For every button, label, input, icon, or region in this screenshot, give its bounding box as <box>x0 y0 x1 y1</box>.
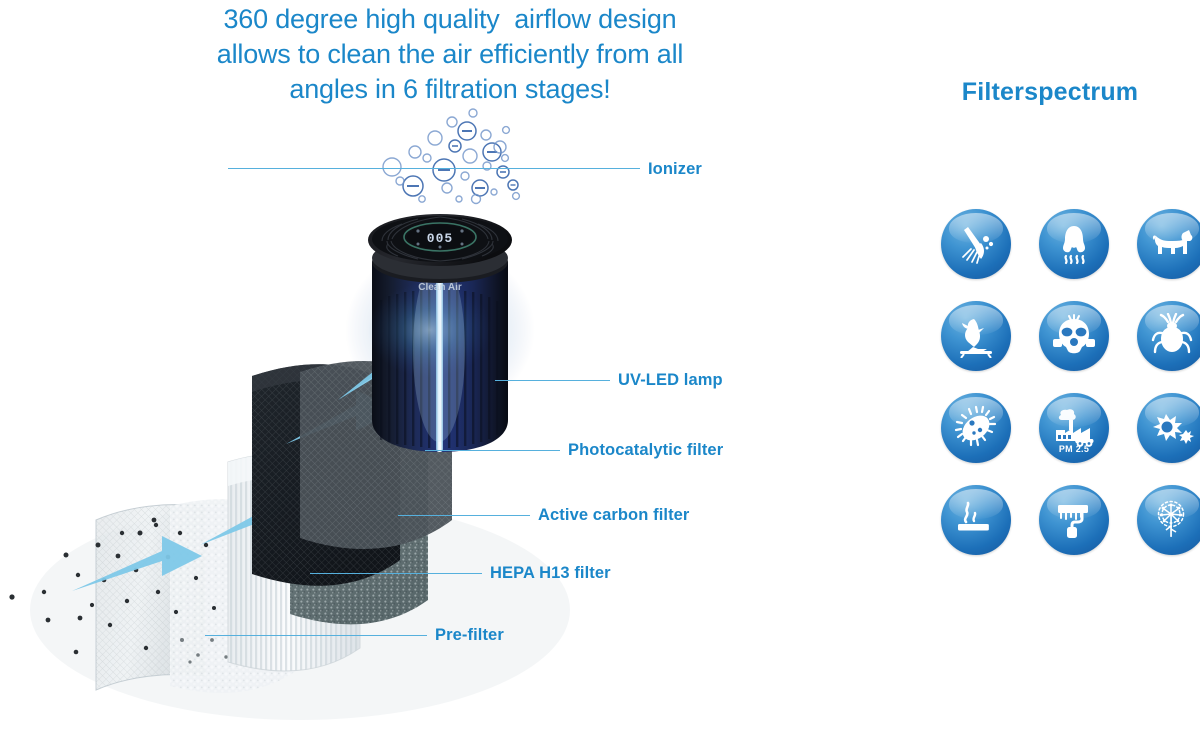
callout-label-active-carbon-filter: Active carbon filter <box>538 506 689 525</box>
dog-pet-dander-icon <box>1137 209 1200 279</box>
nose-odor-icon <box>1039 209 1109 279</box>
leader-line-active-carbon-filter <box>398 515 530 516</box>
callout-label-uv-led-lamp: UV-LED lamp <box>618 371 723 390</box>
ionizer-particles <box>383 109 519 204</box>
icon-cell-pollen <box>1126 474 1200 566</box>
factory-car-pm25-icon: PM 2.5 <box>1039 393 1109 463</box>
icon-cell-paint-fumes <box>1028 474 1120 566</box>
icon-cell-pet-dander <box>1126 198 1200 290</box>
icon-cell-toxic-gases <box>1028 290 1120 382</box>
callout-label-photocatalytic-filter: Photocatalytic filter <box>568 441 723 460</box>
bacteria-icon <box>941 393 1011 463</box>
callout-label-hepa-h13-filter: HEPA H13 filter <box>490 564 611 583</box>
display-value-text: 005 <box>427 231 453 246</box>
gas-mask-icon <box>1039 301 1109 371</box>
broom-dust-icon <box>941 209 1011 279</box>
dandelion-pollen-icon <box>1137 485 1200 555</box>
brand-text: Clean Air <box>418 282 462 293</box>
cigarette-smoke-icon <box>941 485 1011 555</box>
infographic-root: 360 degree high quality airflow design a… <box>0 0 1200 732</box>
leader-line-hepa-h13-filter <box>310 573 482 574</box>
filterspectrum-icon-grid: PM 2.5 <box>930 198 1200 566</box>
air-purifier-diagram: Clean Air <box>0 0 830 732</box>
leader-line-photocatalytic-filter <box>425 450 560 451</box>
icon-cell-dust-mites <box>1126 290 1200 382</box>
paint-roller-voc-icon <box>1039 485 1109 555</box>
callout-label-ionizer: Ionizer <box>648 160 702 179</box>
icon-cell-dust <box>930 198 1022 290</box>
icon-cell-viruses <box>1126 382 1200 474</box>
leader-line-pre-filter <box>205 635 427 636</box>
icon-cell-odours <box>1028 198 1120 290</box>
callout-label-pre-filter: Pre-filter <box>435 626 504 645</box>
dust-mite-icon <box>1137 301 1200 371</box>
filterspectrum-title: Filterspectrum <box>900 78 1200 107</box>
leader-line-uv-led-lamp <box>495 380 610 381</box>
bird-feather-icon <box>941 301 1011 371</box>
leader-line-ionizer <box>228 168 640 169</box>
virus-icon <box>1137 393 1200 463</box>
pm25-label: PM 2.5 <box>1039 444 1109 454</box>
icon-cell-smoke <box>930 474 1022 566</box>
icon-cell-bacteria <box>930 382 1022 474</box>
icon-cell-bird-feathers <box>930 290 1022 382</box>
air-purifier-unit: Clean Air <box>368 214 512 452</box>
icon-cell-pm25: PM 2.5 <box>1028 382 1120 474</box>
